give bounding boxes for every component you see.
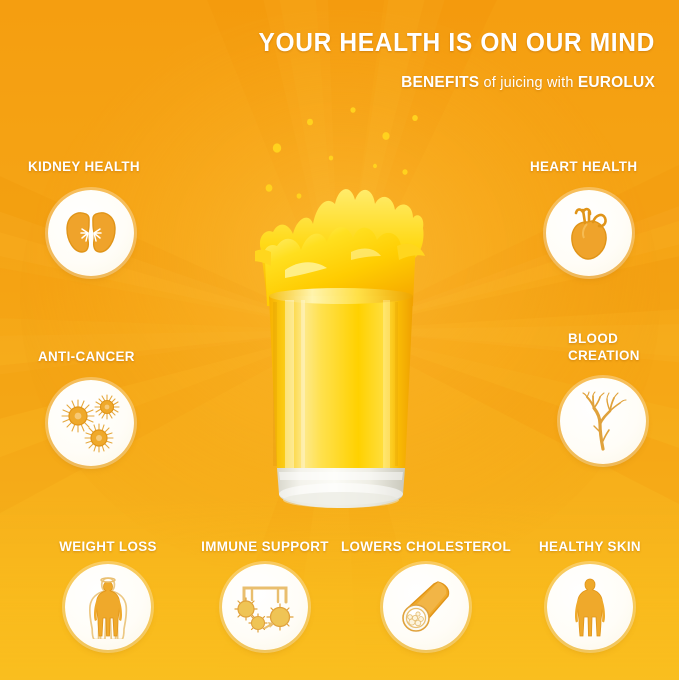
artery-plaque-icon [396,578,456,636]
benefit-anti-cancer[interactable]: ANTI-CANCER [38,348,188,470]
glass-of-juice-with-splash [255,100,427,520]
benefit-blood-creation[interactable]: BLOOD CREATION [568,330,679,470]
benefit-label: ANTI-CANCER [38,348,135,365]
cancer-cells-icon [58,392,124,454]
subtitle-benefits: BENEFITS [401,74,479,91]
benefit-label: HEART HEALTH [530,158,637,175]
benefit-healthy-skin[interactable]: HEALTHY SKIN [520,538,660,658]
page-subtitle: BENEFITS of juicing with EUROLUX [401,74,655,92]
heart-icon-disc [546,190,632,276]
benefit-weight-loss[interactable]: WEIGHT LOSS [38,538,178,658]
benefit-immune-support[interactable]: IMMUNE SUPPORT [188,538,342,658]
immune-cells-icon-disc [222,564,308,650]
benefit-label: HEALTHY SKIN [539,538,641,555]
blood-vessel-tree-icon [574,391,632,451]
cancer-cells-icon-disc [48,380,134,466]
benefit-label-line-2: CREATION [568,347,640,364]
glass-base-band [279,472,403,480]
benefit-label: LOWERS CHOLESTEROL [341,538,511,555]
glass-base-shadow [283,492,399,508]
human-body-icon [568,575,612,639]
immune-cells-icon [234,578,296,636]
subtitle-middle: of juicing with [479,75,578,91]
juice-droplets [266,107,418,198]
artery-plaque-icon-disc [383,564,469,650]
subtitle-brand: EUROLUX [578,74,655,91]
benefit-label: IMMUNE SUPPORT [201,538,329,555]
benefit-lowers-cholesterol[interactable]: LOWERS CHOLESTEROL [338,538,514,658]
benefit-label-line-1: BLOOD [568,330,618,347]
slimming-body-icon [80,575,136,639]
benefit-label: WEIGHT LOSS [59,538,157,555]
benefit-label: KIDNEY HEALTH [28,158,140,175]
kidneys-icon [63,208,119,258]
benefit-kidney-health[interactable]: KIDNEY HEALTH [28,158,178,280]
page-title: YOUR HEALTH IS ON OUR MIND [259,29,655,58]
heart-icon [563,204,615,262]
kidneys-icon-disc [48,190,134,276]
slimming-body-icon-disc [65,564,151,650]
human-body-icon-disc [547,564,633,650]
benefit-heart-health[interactable]: HEART HEALTH [530,158,679,280]
blood-vessel-tree-icon-disc [560,378,646,464]
